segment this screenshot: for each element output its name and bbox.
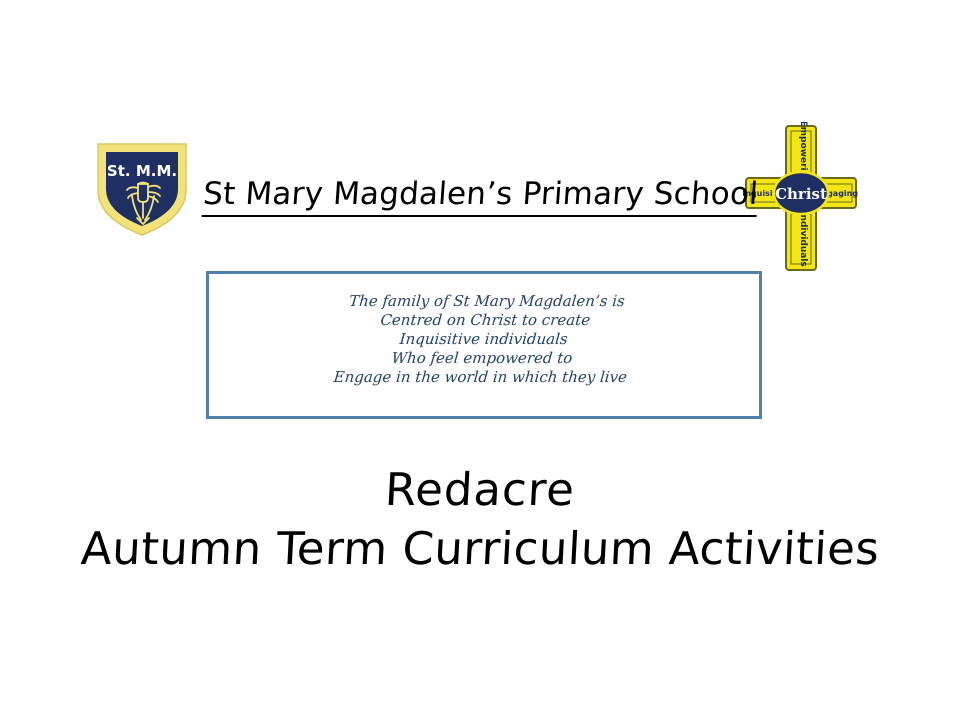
mission-line-4: Who feel empowered to [335, 349, 630, 368]
slide-title-line1-wrap: Redacre [0, 462, 960, 518]
slide-page: St. M.M. [0, 0, 960, 720]
mission-line-2: Centred on Christ to create [338, 311, 633, 330]
school-name-text: St Mary Magdalen’s Primary School [201, 176, 759, 217]
slide-title-line2-wrap: Autumn Term Curriculum Activities [0, 518, 960, 580]
slide-title-line1: Redacre [384, 462, 577, 518]
mission-statement-text: The family of St Mary Magdalen’s is Cent… [333, 292, 635, 387]
cross-bottom-text: Individuals [798, 211, 808, 267]
mission-line-5: Engage in the world in which they live [333, 368, 628, 387]
mission-line-3: Inquisitive individuals [337, 330, 632, 349]
slide-title-line2: Autumn Term Curriculum Activities [79, 518, 881, 580]
mission-line-1: The family of St Mary Magdalen’s is [340, 292, 635, 311]
page-title-school-name: St Mary Magdalen’s Primary School [0, 176, 960, 217]
slide-title-block: Redacre Autumn Term Curriculum Activitie… [0, 462, 960, 580]
mission-statement-box: The family of St Mary Magdalen’s is Cent… [206, 271, 762, 419]
